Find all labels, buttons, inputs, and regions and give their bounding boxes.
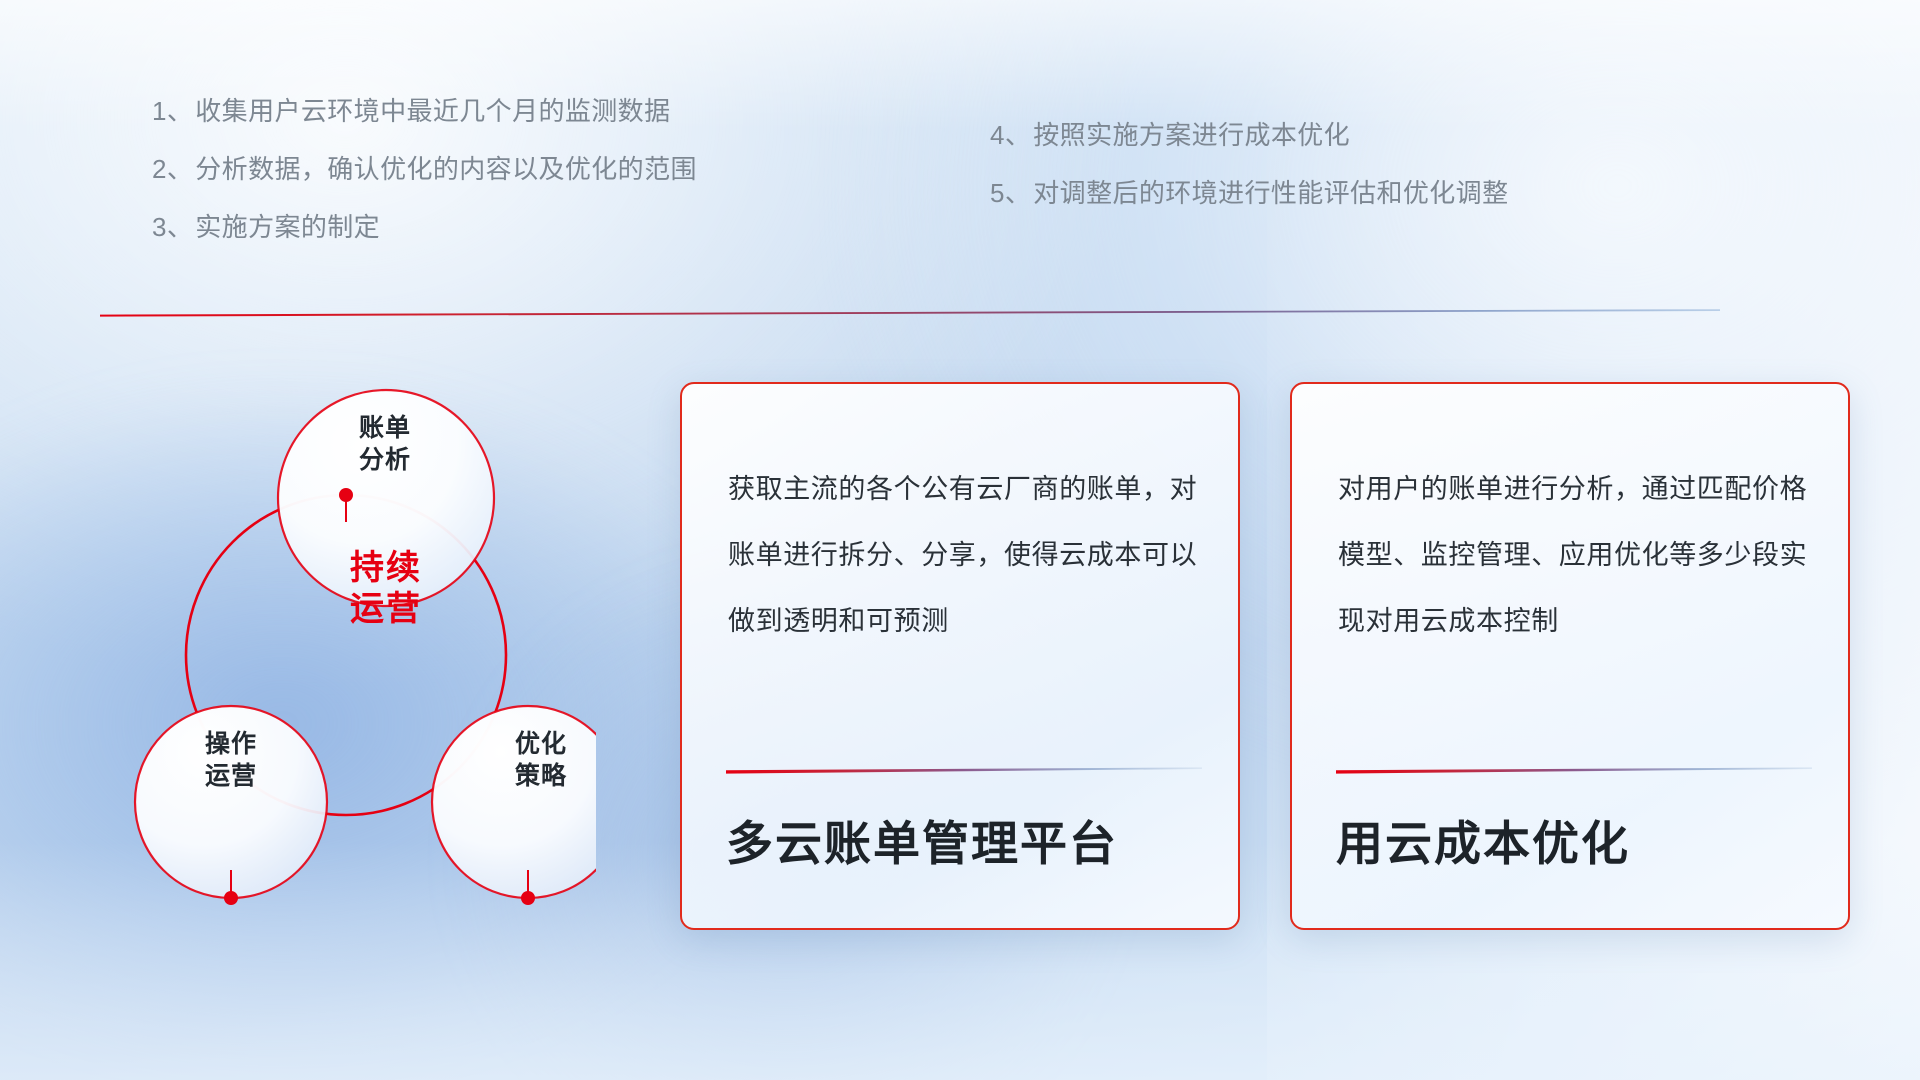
venn-node-optimize-strategy: 优化 策略 xyxy=(466,728,616,792)
card-rule-icon xyxy=(1336,766,1812,775)
card-rule xyxy=(726,766,1202,775)
list-item: 4、按照实施方案进行成本优化 xyxy=(990,122,1508,148)
list-item-number: 5、 xyxy=(990,178,1031,208)
list-item: 5、对调整后的环境进行性能评估和优化调整 xyxy=(990,180,1508,206)
continuous-operation-diagram: 账单 分析 操作 运营 优化 策略 持续 运营 xyxy=(96,350,596,940)
section-divider xyxy=(100,306,1720,320)
divider-icon xyxy=(100,306,1720,320)
steps-list-left: 1、收集用户云环境中最近几个月的监测数据 2、分析数据，确认优化的内容以及优化的… xyxy=(152,98,697,272)
slide-stage: 1、收集用户云环境中最近几个月的监测数据 2、分析数据，确认优化的内容以及优化的… xyxy=(0,0,1920,1080)
list-item: 2、分析数据，确认优化的内容以及优化的范围 xyxy=(152,156,697,182)
list-item: 3、实施方案的制定 xyxy=(152,214,697,240)
card-rule xyxy=(1336,766,1812,775)
card-description: 对用户的账单进行分析，通过匹配价格模型、监控管理、应用优化等多少段实现对用云成本… xyxy=(1338,456,1808,654)
list-item-label: 对调整后的环境进行性能评估和优化调整 xyxy=(1033,178,1508,208)
feature-card-cloud-cost-optimization[interactable]: 对用户的账单进行分析，通过匹配价格模型、监控管理、应用优化等多少段实现对用云成本… xyxy=(1290,382,1850,930)
card-title: 用云成本优化 xyxy=(1336,818,1824,870)
list-item-number: 1、 xyxy=(152,96,193,126)
card-rule-icon xyxy=(726,766,1202,775)
steps-list-right: 4、按照实施方案进行成本优化 5、对调整后的环境进行性能评估和优化调整 xyxy=(990,122,1508,238)
card-description: 获取主流的各个公有云厂商的账单，对账单进行拆分、分享，使得云成本可以做到透明和可… xyxy=(728,456,1198,654)
list-item-label: 实施方案的制定 xyxy=(195,212,380,242)
list-item-number: 2、 xyxy=(152,154,193,184)
list-item: 1、收集用户云环境中最近几个月的监测数据 xyxy=(152,98,697,124)
list-item-label: 按照实施方案进行成本优化 xyxy=(1033,120,1350,150)
list-item-label: 分析数据，确认优化的内容以及优化的范围 xyxy=(195,154,697,184)
venn-node-operation: 操作 运营 xyxy=(156,728,306,792)
venn-center-label: 持续 运营 xyxy=(301,548,471,631)
feature-card-multicloud-billing[interactable]: 获取主流的各个公有云厂商的账单，对账单进行拆分、分享，使得云成本可以做到透明和可… xyxy=(680,382,1240,930)
card-title: 多云账单管理平台 xyxy=(726,818,1214,870)
venn-node-bill-analysis: 账单 分析 xyxy=(310,412,460,476)
list-item-number: 3、 xyxy=(152,212,193,242)
list-item-number: 4、 xyxy=(990,120,1031,150)
list-item-label: 收集用户云环境中最近几个月的监测数据 xyxy=(195,96,670,126)
